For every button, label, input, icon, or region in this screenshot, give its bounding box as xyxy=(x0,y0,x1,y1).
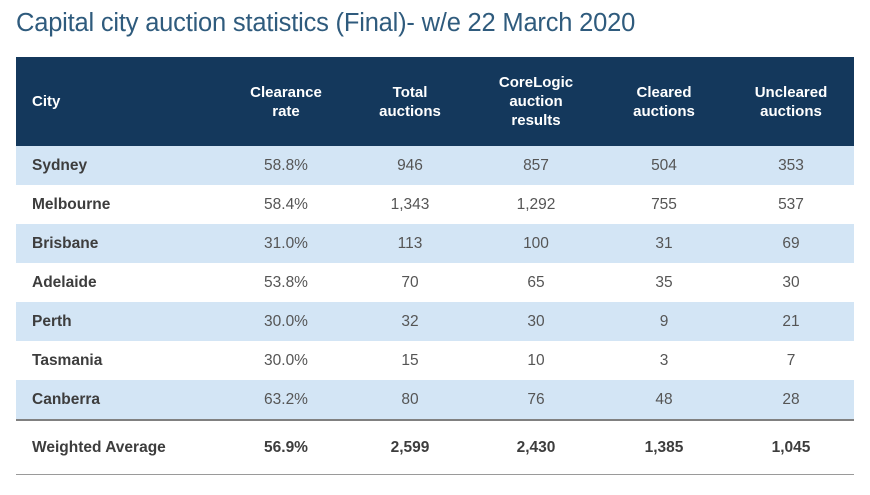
page-title: Capital city auction statistics (Final)-… xyxy=(16,9,856,38)
header-line: auction xyxy=(472,92,600,111)
column-header-cleared-auctions[interactable]: Cleared auctions xyxy=(600,57,728,146)
cell-corelogic: 30 xyxy=(472,302,600,341)
cell-city: Melbourne xyxy=(16,185,224,224)
cell-uncleared: 537 xyxy=(728,185,854,224)
table-row[interactable]: Canberra 63.2% 80 76 48 28 xyxy=(16,380,854,420)
header-line: auctions xyxy=(348,102,472,121)
cell-total: 113 xyxy=(348,224,472,263)
cell-city: Brisbane xyxy=(16,224,224,263)
cell-corelogic: 857 xyxy=(472,146,600,185)
cell-corelogic: 65 xyxy=(472,263,600,302)
cell-clearance: 63.2% xyxy=(224,380,348,420)
cell-city: Perth xyxy=(16,302,224,341)
cell-clearance: 30.0% xyxy=(224,341,348,380)
cell-total: 70 xyxy=(348,263,472,302)
table-row[interactable]: Perth 30.0% 32 30 9 21 xyxy=(16,302,854,341)
cell-clearance: 31.0% xyxy=(224,224,348,263)
header-line: Total xyxy=(348,83,472,102)
cell-clearance: 58.4% xyxy=(224,185,348,224)
cell-city: Tasmania xyxy=(16,341,224,380)
table-row[interactable]: Tasmania 30.0% 15 10 3 7 xyxy=(16,341,854,380)
cell-corelogic: 2,430 xyxy=(472,420,600,475)
table-row[interactable]: Melbourne 58.4% 1,343 1,292 755 537 xyxy=(16,185,854,224)
cell-total: 80 xyxy=(348,380,472,420)
table-row[interactable]: Adelaide 53.8% 70 65 35 30 xyxy=(16,263,854,302)
cell-corelogic: 100 xyxy=(472,224,600,263)
cell-cleared: 48 xyxy=(600,380,728,420)
cell-cleared: 31 xyxy=(600,224,728,263)
cell-corelogic: 76 xyxy=(472,380,600,420)
header-line: Cleared xyxy=(600,83,728,102)
header-line: Clearance xyxy=(224,83,348,102)
table-row[interactable]: Sydney 58.8% 946 857 504 353 xyxy=(16,146,854,185)
cell-total: 32 xyxy=(348,302,472,341)
header-line: auctions xyxy=(600,102,728,121)
column-header-city[interactable]: City xyxy=(16,57,224,146)
cell-uncleared: 28 xyxy=(728,380,854,420)
table-body: Sydney 58.8% 946 857 504 353 Melbourne 5… xyxy=(16,146,854,475)
cell-total: 15 xyxy=(348,341,472,380)
header-line: Uncleared xyxy=(728,83,854,102)
cell-uncleared: 21 xyxy=(728,302,854,341)
cell-uncleared: 353 xyxy=(728,146,854,185)
cell-corelogic: 1,292 xyxy=(472,185,600,224)
header-line: City xyxy=(32,93,60,110)
cell-clearance: 30.0% xyxy=(224,302,348,341)
header-line: results xyxy=(472,111,600,130)
cell-city: Sydney xyxy=(16,146,224,185)
cell-clearance: 56.9% xyxy=(224,420,348,475)
cell-city: Canberra xyxy=(16,380,224,420)
cell-clearance: 53.8% xyxy=(224,263,348,302)
cell-cleared: 9 xyxy=(600,302,728,341)
cell-uncleared: 1,045 xyxy=(728,420,854,475)
cell-uncleared: 69 xyxy=(728,224,854,263)
table-row[interactable]: Brisbane 31.0% 113 100 31 69 xyxy=(16,224,854,263)
column-header-uncleared-auctions[interactable]: Uncleared auctions xyxy=(728,57,854,146)
column-header-corelogic-auction-results[interactable]: CoreLogic auction results xyxy=(472,57,600,146)
cell-clearance: 58.8% xyxy=(224,146,348,185)
column-header-clearance-rate[interactable]: Clearance rate xyxy=(224,57,348,146)
cell-total: 2,599 xyxy=(348,420,472,475)
table-header: City Clearance rate Total auctions CoreL… xyxy=(16,57,854,146)
cell-cleared: 1,385 xyxy=(600,420,728,475)
cell-city: Adelaide xyxy=(16,263,224,302)
stats-table: City Clearance rate Total auctions CoreL… xyxy=(16,57,854,475)
cell-cleared: 35 xyxy=(600,263,728,302)
header-line: rate xyxy=(224,102,348,121)
cell-total: 946 xyxy=(348,146,472,185)
cell-cleared: 3 xyxy=(600,341,728,380)
header-line: CoreLogic xyxy=(472,73,600,92)
auction-statistics-table: City Clearance rate Total auctions CoreL… xyxy=(16,57,854,475)
cell-total: 1,343 xyxy=(348,185,472,224)
cell-city: Weighted Average xyxy=(16,420,224,475)
table-row-weighted-average[interactable]: Weighted Average 56.9% 2,599 2,430 1,385… xyxy=(16,420,854,475)
cell-uncleared: 30 xyxy=(728,263,854,302)
header-row: City Clearance rate Total auctions CoreL… xyxy=(16,57,854,146)
cell-cleared: 755 xyxy=(600,185,728,224)
cell-cleared: 504 xyxy=(600,146,728,185)
header-line: auctions xyxy=(728,102,854,121)
cell-uncleared: 7 xyxy=(728,341,854,380)
column-header-total-auctions[interactable]: Total auctions xyxy=(348,57,472,146)
cell-corelogic: 10 xyxy=(472,341,600,380)
